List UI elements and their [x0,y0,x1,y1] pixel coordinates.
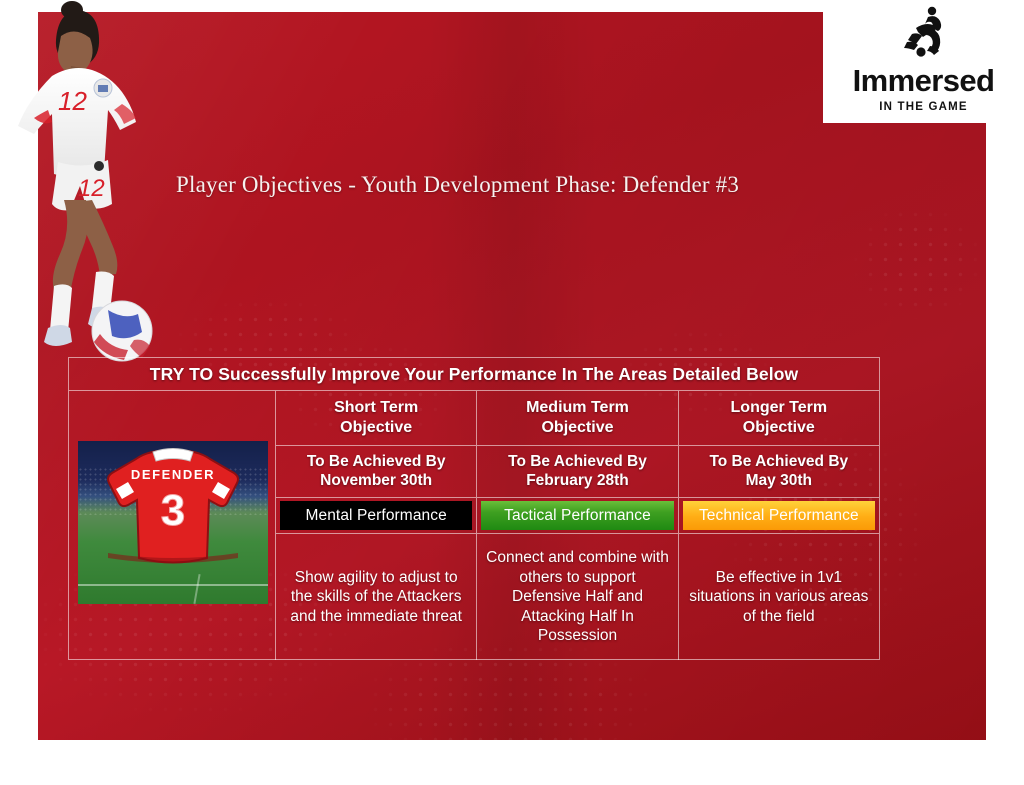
term-heading-line1: Short Term [334,399,418,416]
column-medium-term: Medium Term Objective To Be Achieved By … [477,391,678,660]
table-body: DEFENDER 3 Short Term Objective To Be Ac… [69,391,879,660]
column-longer-term: Longer Term Objective To Be Achieved By … [679,391,879,660]
deadline-line2: November 30th [320,472,432,489]
svg-text:12: 12 [78,175,105,202]
slide-canvas: 12 12 Player Objectives - Youth Developm [0,0,1024,785]
objective-text: Connect and combine with others to suppo… [477,534,677,660]
objective-text: Show agility to adjust to the skills of … [276,534,476,660]
term-heading: Short Term Objective [276,391,476,446]
logo-tagline: IN THE GAME [879,101,968,113]
logo-wordmark: Immersed [853,65,995,96]
performance-row: Technical Performance [679,498,879,534]
term-heading-line1: Longer Term [731,399,828,416]
deadline: To Be Achieved By February 28th [477,446,677,498]
table-header-row: TRY TO Successfully Improve Your Perform… [69,358,879,391]
performance-row: Mental Performance [276,498,476,534]
performance-row: Tactical Performance [477,498,677,534]
term-heading-line1: Medium Term [526,399,629,416]
player-photo: 12 12 [0,0,190,365]
term-heading: Longer Term Objective [679,391,879,446]
page-title: Player Objectives - Youth Development Ph… [176,172,739,198]
shirt-image-cell: DEFENDER 3 [69,391,276,660]
performance-badge-mental: Mental Performance [280,501,472,530]
term-heading-line2: Objective [340,419,412,436]
deadline-line1: To Be Achieved By [508,453,647,470]
performance-badge-technical: Technical Performance [683,501,875,530]
shirt-role-label: DEFENDER [131,467,215,482]
column-short-term: Short Term Objective To Be Achieved By N… [276,391,477,660]
deadline-line2: May 30th [746,472,812,489]
svg-text:12: 12 [58,86,87,116]
deadline-line1: To Be Achieved By [709,453,848,470]
term-heading-line2: Objective [743,419,815,436]
shirt-number: 3 [161,486,185,535]
brand-logo[interactable]: Immersed IN THE GAME [823,0,1024,123]
objectives-table: TRY TO Successfully Improve Your Perform… [68,357,880,660]
deadline: To Be Achieved By May 30th [679,446,879,498]
deadline-line1: To Be Achieved By [307,453,446,470]
objective-columns: Short Term Objective To Be Achieved By N… [276,391,879,660]
term-heading: Medium Term Objective [477,391,677,446]
shirt-illustration: DEFENDER 3 [78,441,268,604]
table-header-label: TRY TO Successfully Improve Your Perform… [150,364,798,385]
deadline: To Be Achieved By November 30th [276,446,476,498]
soccer-player-kicking-ball-icon [892,6,956,63]
performance-badge-tactical: Tactical Performance [481,501,673,530]
term-heading-line2: Objective [541,419,613,436]
deadline-line2: February 28th [526,472,629,489]
objective-text: Be effective in 1v1 situations in variou… [679,534,879,660]
